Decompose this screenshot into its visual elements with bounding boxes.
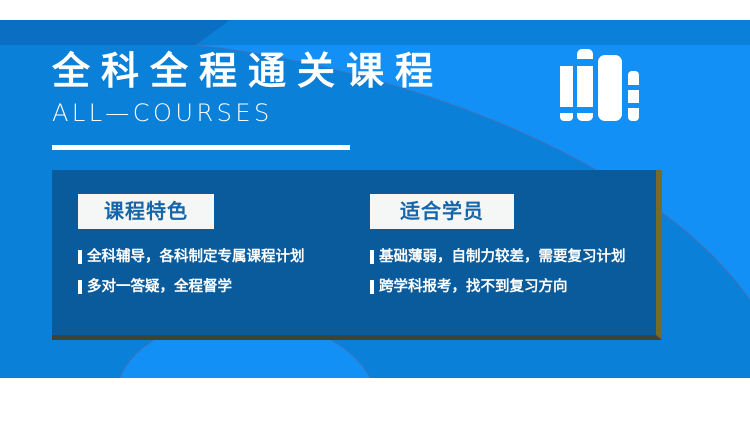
bullet-list-course-features: 全科辅导，各科制定专属课程计划 多对一答疑，全程督学	[78, 242, 352, 302]
background-bottom-margin	[0, 378, 750, 424]
column-title-suitable-students: 适合学员	[370, 194, 514, 229]
bullet-list-suitable-students: 基础薄弱，自制力较差，需要复习计划 跨学科报考，找不到复习方向	[370, 242, 652, 302]
bullet-mark-icon	[78, 280, 82, 294]
info-panel: 课程特色 全科辅导，各科制定专属课程计划 多对一答疑，全程督学 适合学员	[52, 170, 662, 340]
bullet-text: 基础薄弱，自制力较差，需要复习计划	[379, 242, 626, 272]
list-item: 多对一答疑，全程督学	[78, 272, 352, 302]
background-left-band	[0, 200, 60, 378]
bullet-mark-icon	[370, 280, 374, 294]
list-item: 全科辅导，各科制定专属课程计划	[78, 242, 352, 272]
background-top-margin	[0, 0, 750, 20]
stacked-books-icon	[560, 45, 646, 121]
bullet-text: 跨学科报考，找不到复习方向	[379, 272, 568, 302]
course-promo-banner: 全科全程通关课程 ALL—COURSES 课程特色 全科辅导，各科制定专属课程计…	[0, 0, 750, 424]
list-item: 跨学科报考，找不到复习方向	[370, 272, 652, 302]
bullet-mark-icon	[370, 250, 374, 264]
background-top-wedge	[0, 20, 230, 45]
info-panel-columns: 课程特色 全科辅导，各科制定专属课程计划 多对一答疑，全程督学 适合学员	[52, 170, 656, 335]
bullet-mark-icon	[78, 250, 82, 264]
column-title-course-features: 课程特色	[78, 194, 214, 229]
bullet-text: 多对一答疑，全程督学	[87, 272, 232, 302]
list-item: 基础薄弱，自制力较差，需要复习计划	[370, 242, 652, 272]
headline-underline-rule	[52, 145, 350, 150]
bullet-text: 全科辅导，各科制定专属课程计划	[87, 242, 305, 272]
column-suitable-students: 适合学员 基础薄弱，自制力较差，需要复习计划 跨学科报考，找不到复习方向	[352, 194, 652, 335]
column-course-features: 课程特色 全科辅导，各科制定专属课程计划 多对一答疑，全程督学	[52, 194, 352, 335]
